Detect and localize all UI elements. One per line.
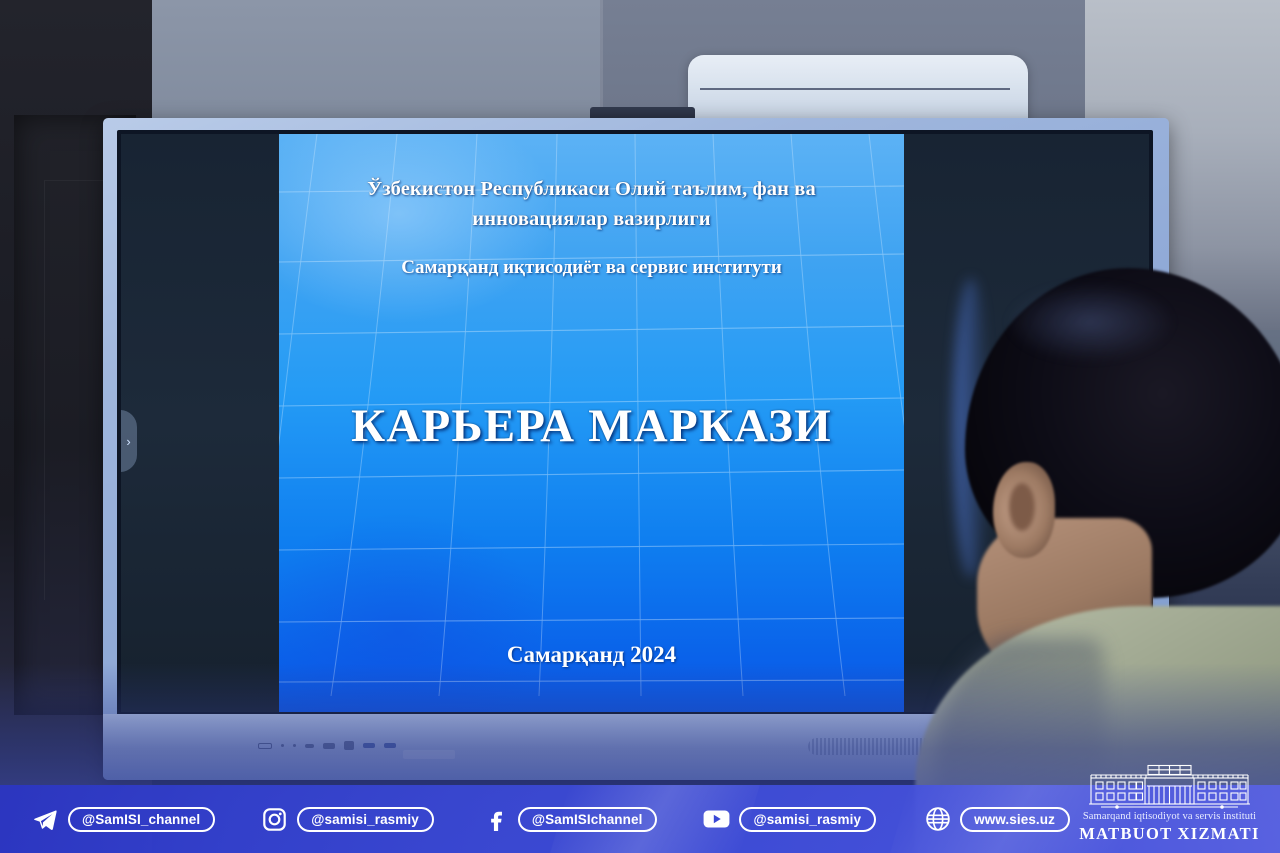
slide-institute-name: Самарқанд иқтисодиёт ва сервис институти — [279, 257, 904, 279]
instagram-handle[interactable]: @samisi_rasmiy — [297, 807, 434, 832]
slide-main-title: КАРЬЕРА МАРКАЗИ — [279, 399, 904, 453]
presentation-slide: Ўзбекистон Республикаси Олий таълим, фан… — [279, 134, 904, 712]
instagram-icon — [261, 806, 288, 833]
social-links-row: @SamISI_channel @samisi_rasmiy @SamISIch… — [0, 785, 1060, 853]
globe-www-icon — [924, 806, 951, 833]
screenshot-stage: Ўзбекистон Республикаси Олий таълим, фан… — [0, 0, 1280, 853]
youtube-icon — [703, 806, 730, 833]
ministry-line-1: Ўзбекистон Республикаси Олий таълим, фан… — [367, 178, 816, 200]
logo-press-service: MATBUOT XIZMATI — [1067, 824, 1272, 844]
telegram-icon — [32, 806, 59, 833]
social-item-instagram[interactable]: @samisi_rasmiy — [261, 806, 434, 833]
youtube-handle[interactable]: @samisi_rasmiy — [739, 807, 876, 832]
person-ear-inner — [1009, 483, 1035, 531]
institute-building-icon — [1087, 764, 1252, 810]
slide-text-block: Ўзбекистон Республикаси Олий таълим, фан… — [279, 134, 904, 712]
social-item-telegram[interactable]: @SamISI_channel — [32, 806, 215, 833]
ministry-line-2: инновациялар вазирлиги — [472, 208, 710, 230]
facebook-handle[interactable]: @SamISIchannel — [518, 807, 658, 832]
social-item-youtube[interactable]: @samisi_rasmiy — [703, 806, 876, 833]
logo-institute-name: Samarqand iqtisodiyot va servis institut… — [1067, 811, 1272, 823]
social-item-website[interactable]: www.sies.uz — [924, 806, 1070, 833]
website-url[interactable]: www.sies.uz — [960, 807, 1070, 832]
sidebar-toggle-handle[interactable]: › — [121, 410, 137, 472]
letterbox-left — [121, 134, 281, 712]
facebook-icon — [482, 806, 509, 833]
chevron-right-icon: › — [126, 434, 130, 449]
social-item-facebook[interactable]: @SamISIchannel — [482, 806, 658, 833]
slide-ministry-heading: Ўзбекистон Республикаси Олий таълим, фан… — [279, 175, 904, 234]
press-service-logo: Samarqand iqtisodiyot va servis institut… — [1067, 762, 1272, 850]
appliance-seam — [700, 88, 1010, 90]
hair-highlight — [1005, 282, 1175, 362]
telegram-handle[interactable]: @SamISI_channel — [68, 807, 215, 832]
